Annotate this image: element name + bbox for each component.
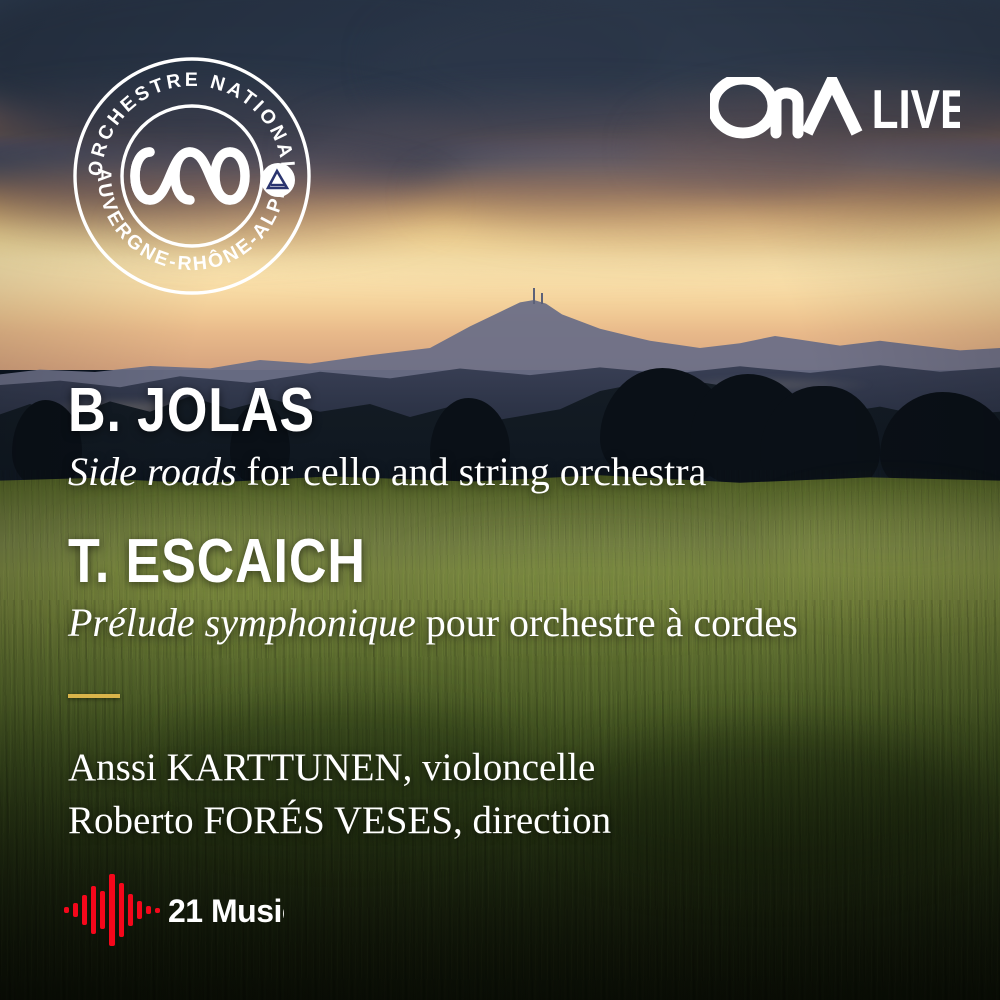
performer-conductor: Roberto FORÉS VESES, direction <box>68 795 968 847</box>
region-badge <box>261 163 295 197</box>
program-text-block: B. JOLAS Side roads for cello and string… <box>68 380 968 847</box>
gold-divider-rule <box>68 694 120 698</box>
composer-name-jolas: B. JOLAS <box>68 380 824 442</box>
ona-letter-n <box>776 93 798 133</box>
ona-live-logo: LIVE <box>710 78 960 138</box>
orchestra-seal-logo: ORCHESTRE NATIONAL AUVERGNE-RHÔNE-ALPES <box>68 52 316 300</box>
ona-letter-a <box>807 81 857 133</box>
work-title-escaich-italic: Prélude symphonique <box>68 600 416 645</box>
audio-waveform-icon <box>64 874 160 946</box>
summit-antenna <box>533 288 535 304</box>
work-title-escaich-rest: pour orchestre à cordes <box>416 600 798 645</box>
work-title-jolas-italic: Side roads <box>68 449 237 494</box>
summit-antenna <box>541 293 543 304</box>
ona-wave-monogram <box>135 152 245 200</box>
ona-letter-o <box>713 79 773 133</box>
record-label-logo: 21 Music <box>64 872 284 948</box>
performer-cellist: Anssi KARTTUNEN, violoncelle <box>68 742 968 794</box>
work-title-jolas-rest: for cello and string orchestra <box>237 449 707 494</box>
spacer <box>68 495 968 531</box>
album-cover: ORCHESTRE NATIONAL AUVERGNE-RHÔNE-ALPES <box>0 0 1000 1000</box>
work-title-escaich: Prélude symphonique pour orchestre à cor… <box>68 599 968 646</box>
live-wordmark: LIVE <box>872 78 960 139</box>
record-label-name: 21 Music <box>168 893 284 929</box>
composer-name-escaich: T. ESCAICH <box>68 531 824 593</box>
work-title-jolas: Side roads for cello and string orchestr… <box>68 448 968 495</box>
